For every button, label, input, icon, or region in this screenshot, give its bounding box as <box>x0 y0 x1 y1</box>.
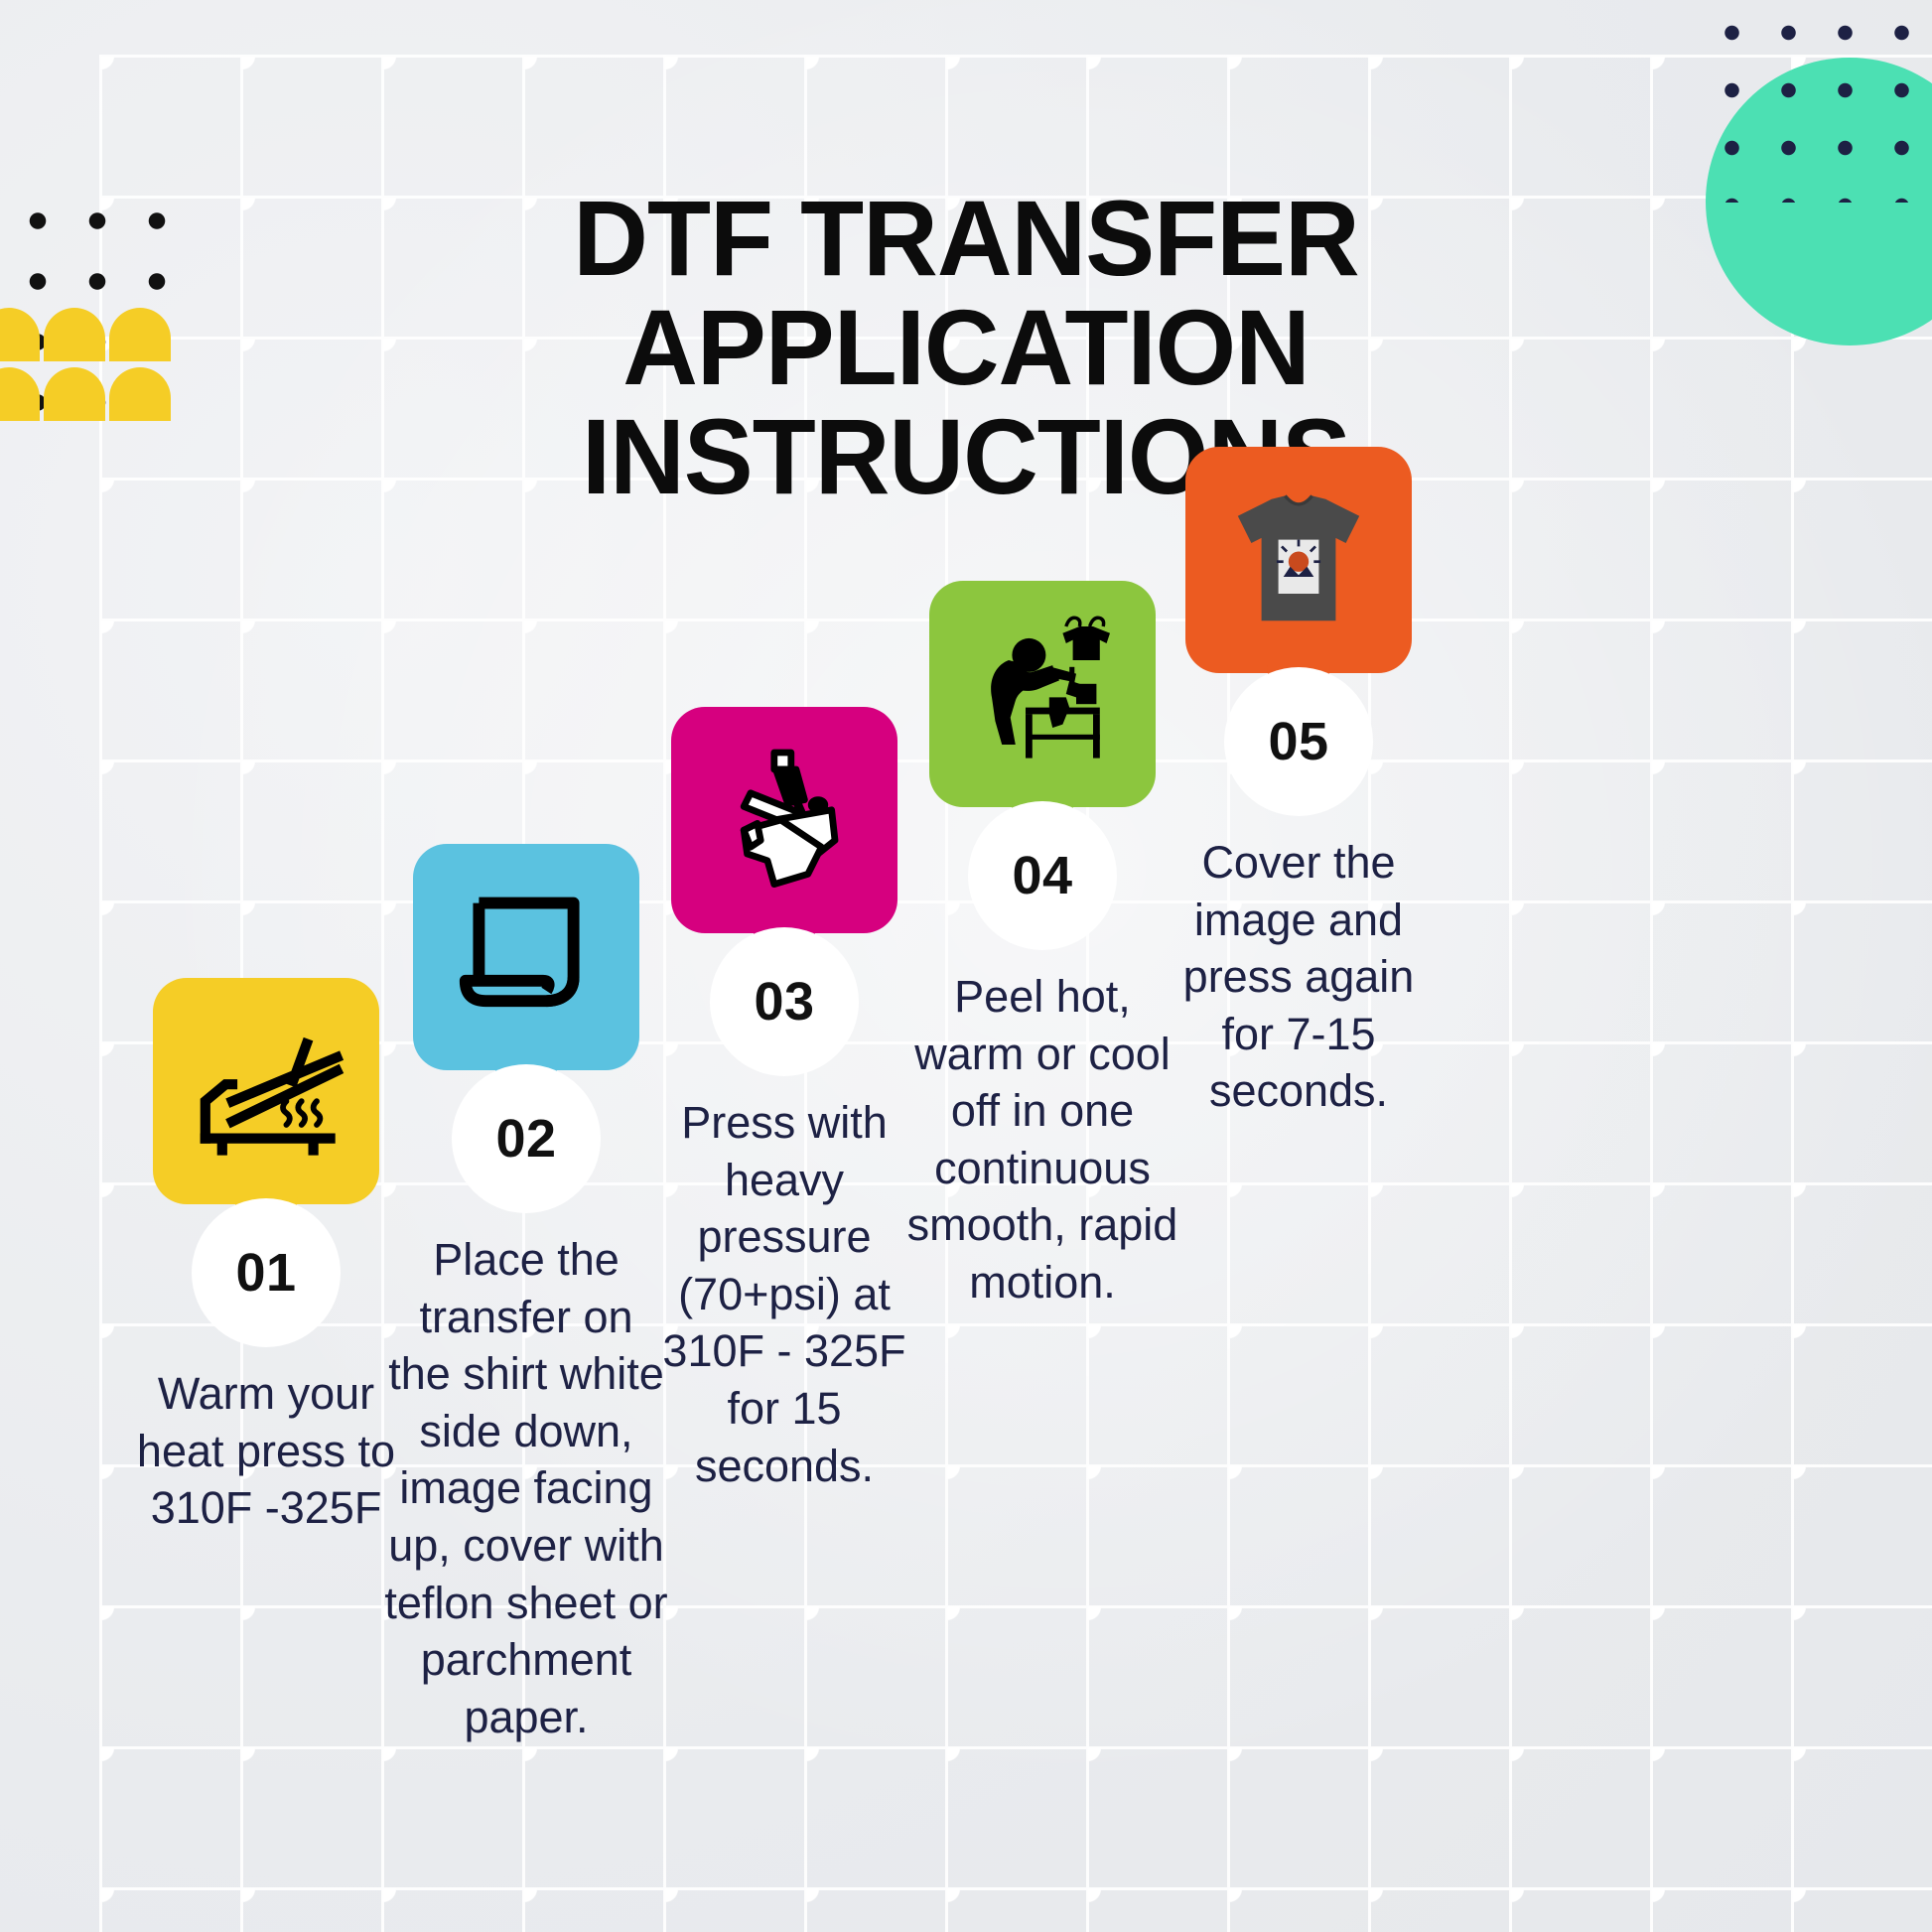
step-05-number: 05 <box>1224 667 1373 816</box>
infographic-canvas: DTF TRANSFER APPLICATION INSTRUCTIONS <box>0 0 1932 1932</box>
step-01: 01 Warm your heat press to 310F -325F <box>117 978 415 1537</box>
title-line-1: DTF TRANSFER APPLICATION <box>573 178 1358 407</box>
step-04: 04 Peel hot, warm or cool off in one con… <box>894 581 1191 1311</box>
worker-pressing-icon <box>958 610 1127 778</box>
title-line-2: INSTRUCTIONS <box>270 402 1663 511</box>
step-01-badge-wrap: 01 <box>192 1198 341 1347</box>
step-02: 02 Place the transfer on the shirt white… <box>377 844 675 1745</box>
dot-grid-top-right <box>1704 4 1922 203</box>
transfer-sheet-icon <box>442 873 611 1041</box>
step-01-card[interactable] <box>153 978 379 1204</box>
step-05-badge-wrap: 05 <box>1224 667 1373 816</box>
step-04-card[interactable] <box>929 581 1156 807</box>
step-03-badge-wrap: 03 <box>710 927 859 1076</box>
step-05-card[interactable] <box>1185 447 1412 673</box>
heat-press-open-icon <box>182 1007 350 1175</box>
step-03-number: 03 <box>710 927 859 1076</box>
step-05: 05 Cover the image and press again for 7… <box>1150 447 1448 1120</box>
step-04-badge-wrap: 04 <box>968 801 1117 950</box>
step-05-description: Cover the image and press again for 7-15… <box>1150 834 1448 1120</box>
step-02-description: Place the transfer on the shirt white si… <box>377 1231 675 1745</box>
printed-tshirt-icon <box>1214 476 1383 644</box>
heat-press-machine-icon <box>700 736 869 904</box>
step-03-card[interactable] <box>671 707 897 933</box>
step-04-description: Peel hot, warm or cool off in one contin… <box>894 968 1191 1311</box>
step-02-number: 02 <box>452 1064 601 1213</box>
page-title: DTF TRANSFER APPLICATION INSTRUCTIONS <box>29 184 1903 511</box>
step-01-description: Warm your heat press to 310F -325F <box>117 1365 415 1537</box>
step-02-badge-wrap: 02 <box>452 1064 601 1213</box>
step-04-number: 04 <box>968 801 1117 950</box>
step-02-card[interactable] <box>413 844 639 1070</box>
step-03-description: Press with heavy pressure (70+psi) at 31… <box>635 1094 933 1494</box>
step-03: 03 Press with heavy pressure (70+psi) at… <box>635 707 933 1494</box>
step-01-number: 01 <box>192 1198 341 1347</box>
